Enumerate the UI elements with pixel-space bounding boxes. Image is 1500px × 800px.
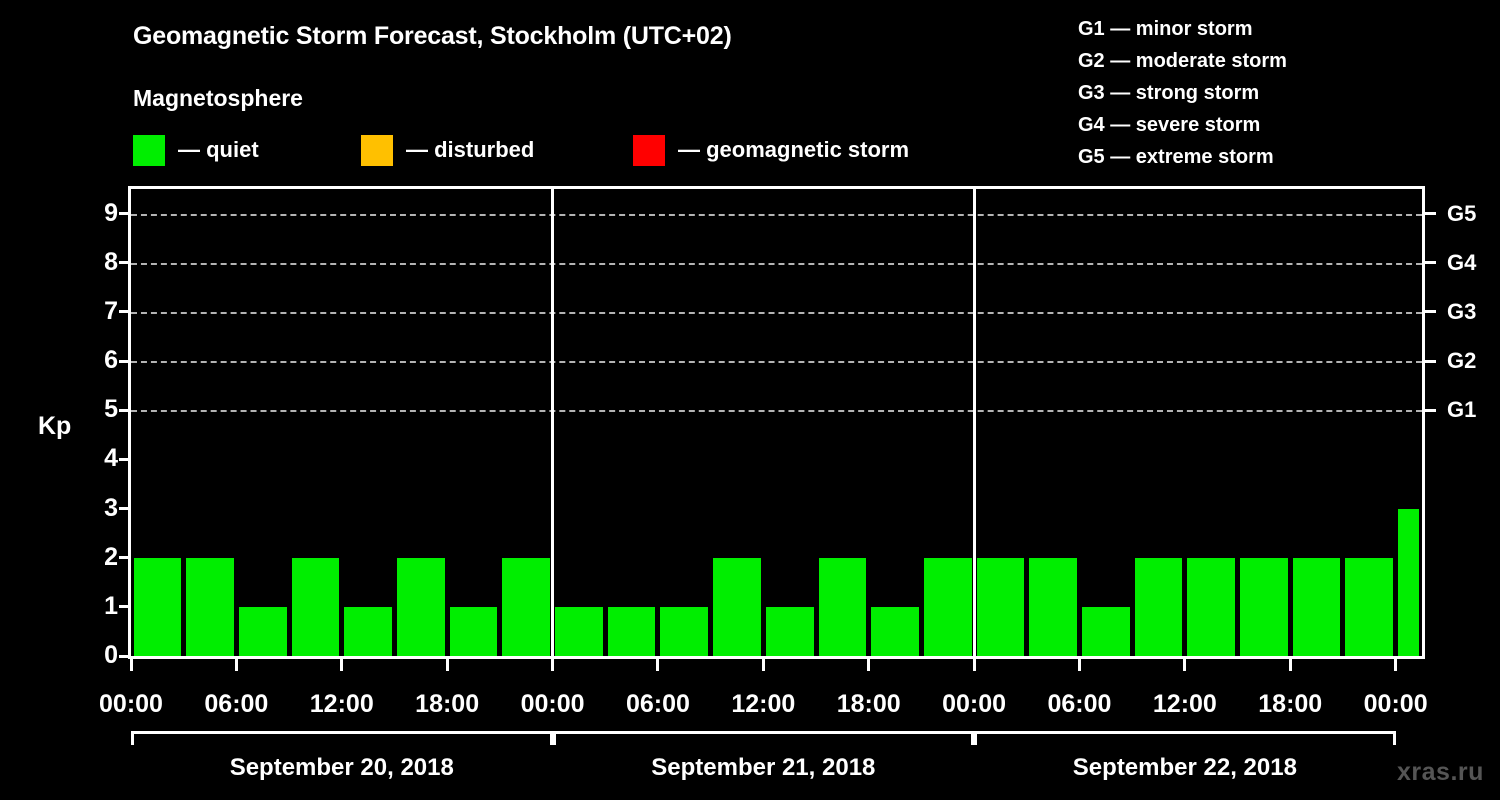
legend-label: — disturbed — [406, 137, 534, 163]
date-bracket — [553, 731, 975, 745]
x-tick-mark — [1394, 659, 1397, 671]
y-tick-label: 6 — [78, 348, 118, 373]
x-tick-mark — [446, 659, 449, 671]
bar — [134, 558, 182, 656]
red-square-swatch — [633, 135, 665, 166]
page-title: Geomagnetic Storm Forecast, Stockholm (U… — [133, 22, 732, 51]
legend-entry: — disturbed — [361, 134, 534, 166]
g-tick-label: G5 — [1447, 203, 1476, 225]
bar — [766, 607, 814, 656]
date-label: September 21, 2018 — [553, 754, 975, 782]
bar — [660, 607, 708, 656]
date-label: September 20, 2018 — [131, 754, 553, 782]
g-scale-legend-row: G1 — minor storm — [1078, 13, 1287, 45]
y-tick-mark — [119, 360, 129, 363]
g-tick-label: G4 — [1447, 252, 1476, 274]
bar — [450, 607, 498, 656]
g-tick-mark — [1425, 409, 1436, 412]
g-scale-legend-row: G5 — extreme storm — [1078, 141, 1287, 173]
g-tick-mark — [1425, 212, 1436, 215]
date-label: September 22, 2018 — [974, 754, 1396, 782]
g-scale-legend-row: G2 — moderate storm — [1078, 45, 1287, 77]
bar — [186, 558, 234, 656]
bar — [819, 558, 867, 656]
bar — [555, 607, 603, 656]
bar — [502, 558, 550, 656]
bar — [1135, 558, 1183, 656]
geomagnetic-storm-forecast-chart: Geomagnetic Storm Forecast, Stockholm (U… — [0, 0, 1500, 800]
legend-entry: — geomagnetic storm — [633, 134, 909, 166]
x-tick-mark — [235, 659, 238, 671]
y-tick-label: 1 — [78, 594, 118, 619]
gridline-kp-7 — [131, 312, 1422, 314]
x-tick-mark — [340, 659, 343, 671]
g-scale-legend-row: G3 — strong storm — [1078, 77, 1287, 109]
x-tick-mark — [1183, 659, 1186, 671]
g-tick-label: G1 — [1447, 399, 1476, 421]
legend-label: — quiet — [178, 137, 259, 163]
g-tick-mark — [1425, 310, 1436, 313]
gridline-kp-6 — [131, 361, 1422, 363]
y-tick-mark — [119, 655, 129, 658]
bar — [608, 607, 656, 656]
y-tick-label: 7 — [78, 299, 118, 324]
x-tick-mark — [130, 659, 133, 671]
x-tick-mark — [867, 659, 870, 671]
y-tick-label: 4 — [78, 446, 118, 471]
g-tick-mark — [1425, 360, 1436, 363]
bar — [1029, 558, 1077, 656]
y-tick-label: 3 — [78, 496, 118, 521]
bar — [871, 607, 919, 656]
legend-label: — geomagnetic storm — [678, 137, 909, 163]
bar — [292, 558, 340, 656]
day-separator — [973, 189, 976, 656]
g-tick-label: G3 — [1447, 301, 1476, 323]
bar — [1187, 558, 1235, 656]
bar — [977, 558, 1025, 656]
x-tick-mark — [762, 659, 765, 671]
y-tick-mark — [119, 310, 129, 313]
gridline-kp-5 — [131, 410, 1422, 412]
gridline-kp-8 — [131, 263, 1422, 265]
x-tick-mark — [656, 659, 659, 671]
bar — [713, 558, 761, 656]
green-square-swatch — [133, 135, 165, 166]
bar — [1293, 558, 1341, 656]
bar — [924, 558, 972, 656]
watermark: xras.ru — [1397, 758, 1484, 787]
gridline-kp-9 — [131, 214, 1422, 216]
y-tick-mark — [119, 261, 129, 264]
bar — [1345, 558, 1393, 656]
date-bracket — [131, 731, 553, 745]
y-tick-mark — [119, 212, 129, 215]
y-tick-label: 2 — [78, 545, 118, 570]
y-tick-label: 0 — [78, 643, 118, 668]
bar — [1082, 607, 1130, 656]
y-axis-title: Kp — [38, 412, 71, 441]
y-tick-label: 8 — [78, 250, 118, 275]
bar — [344, 607, 392, 656]
bar — [1398, 509, 1419, 656]
y-tick-mark — [119, 507, 129, 510]
date-bracket — [974, 731, 1396, 745]
x-tick-mark — [1078, 659, 1081, 671]
y-tick-mark — [119, 556, 129, 559]
legend-heading: Magnetosphere — [133, 85, 303, 112]
bar — [1240, 558, 1288, 656]
g-tick-mark — [1425, 261, 1436, 264]
plot-inner — [131, 189, 1422, 656]
g-scale-legend-row: G4 — severe storm — [1078, 109, 1287, 141]
day-separator — [551, 189, 554, 656]
y-tick-mark — [119, 409, 129, 412]
y-tick-label: 9 — [78, 201, 118, 226]
y-tick-mark — [119, 605, 129, 608]
x-tick-mark — [1289, 659, 1292, 671]
x-tick-mark — [973, 659, 976, 671]
plot-area — [128, 186, 1425, 659]
bar — [397, 558, 445, 656]
x-tick-mark — [551, 659, 554, 671]
y-tick-label: 5 — [78, 397, 118, 422]
g-scale-legend: G1 — minor stormG2 — moderate stormG3 — … — [1078, 13, 1287, 173]
y-tick-mark — [119, 458, 129, 461]
g-tick-label: G2 — [1447, 350, 1476, 372]
orange-square-swatch — [361, 135, 393, 166]
x-tick-label: 00:00 — [1326, 690, 1466, 719]
legend-entry: — quiet — [133, 134, 259, 166]
bar — [239, 607, 287, 656]
